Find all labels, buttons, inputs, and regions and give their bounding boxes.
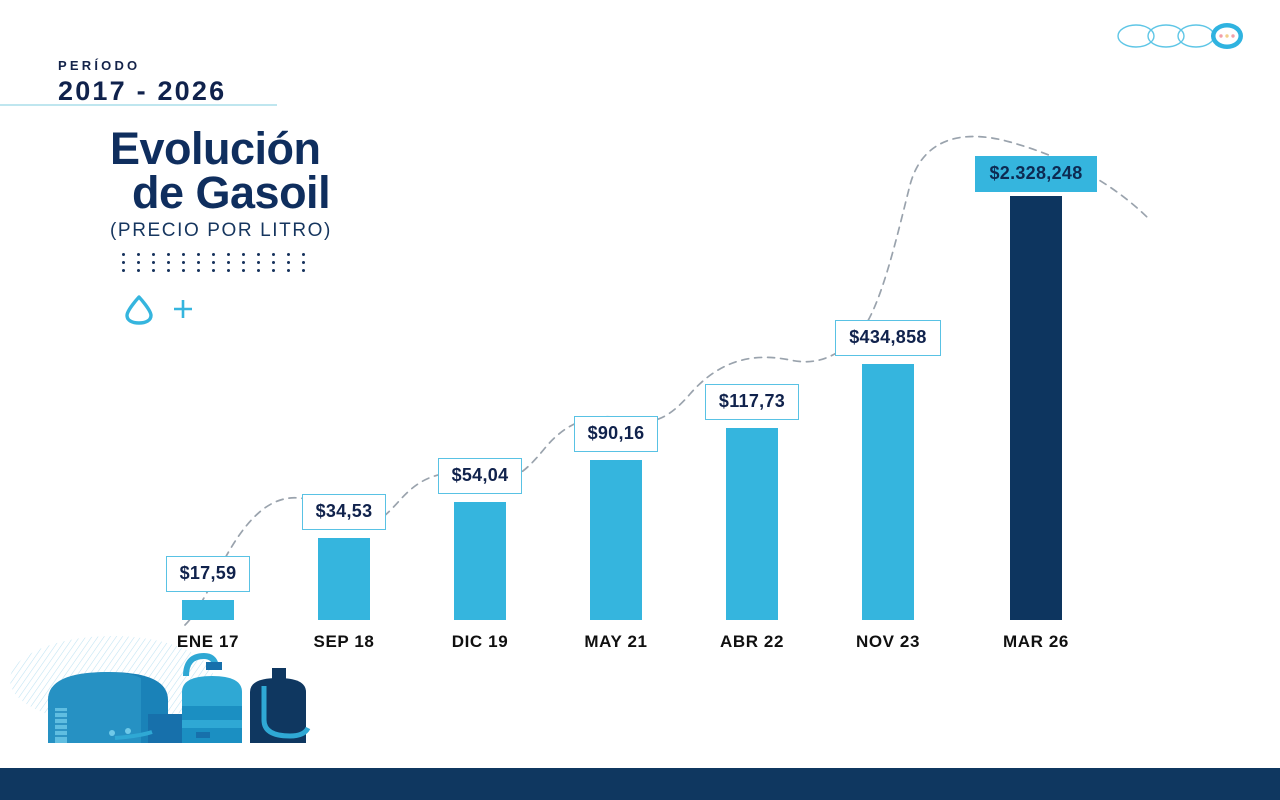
bar-dic-19[interactable]	[454, 502, 506, 620]
value-label-nov-23: $434,858	[835, 320, 940, 356]
bar-nov-23[interactable]	[862, 364, 914, 620]
bar-group-nov-23[interactable]: $434,858	[820, 110, 956, 620]
value-label-ene-17: $17,59	[166, 556, 251, 592]
bar-group-ene-17[interactable]: $17,59	[140, 110, 276, 620]
value-label-may-21: $90,16	[574, 416, 659, 452]
category-label-nov-23: NOV 23	[820, 632, 956, 652]
bar-group-dic-19[interactable]: $54,04	[412, 110, 548, 620]
bar-group-may-21[interactable]: $90,16	[548, 110, 684, 620]
period-label: PERÍODO	[58, 58, 226, 73]
period-range: 2017 - 2026	[58, 76, 226, 107]
source-credit: Fuente: FADEEAC	[1108, 7, 1218, 22]
value-label-abr-22: $117,73	[705, 384, 799, 420]
source-name: FADEEAC	[1156, 7, 1218, 22]
header-divider	[0, 104, 277, 106]
category-label-dic-19: DIC 19	[412, 632, 548, 652]
bar-may-21[interactable]	[590, 460, 642, 620]
bar-group-sep-18[interactable]: $34,53	[276, 110, 412, 620]
bar-sep-18[interactable]	[318, 538, 370, 620]
bar-chart: $17,59 $34,53 $54,04 $90,16 $117,73 $434…	[140, 110, 1140, 620]
value-label-mar-26: $2.328,248	[975, 156, 1096, 192]
category-label-mar-26: MAR 26	[968, 632, 1104, 652]
bar-abr-22[interactable]	[726, 428, 778, 620]
bar-mar-26[interactable]	[1010, 196, 1062, 620]
category-label-may-21: MAY 21	[548, 632, 684, 652]
bar-group-mar-26[interactable]: $2.328,248	[968, 110, 1104, 620]
footer-bar	[0, 768, 1280, 800]
value-label-dic-19: $54,04	[438, 458, 523, 494]
period-header: PERÍODO 2017 - 2026	[58, 58, 226, 107]
value-label-sep-18: $34,53	[302, 494, 387, 530]
fuel-tanks-illustration	[0, 628, 340, 773]
category-label-abr-22: ABR 22	[684, 632, 820, 652]
brand-logo	[1114, 16, 1244, 61]
bar-group-abr-22[interactable]: $117,73	[684, 110, 820, 620]
source-prefix: Fuente:	[1108, 7, 1156, 22]
bar-ene-17[interactable]	[182, 600, 234, 620]
